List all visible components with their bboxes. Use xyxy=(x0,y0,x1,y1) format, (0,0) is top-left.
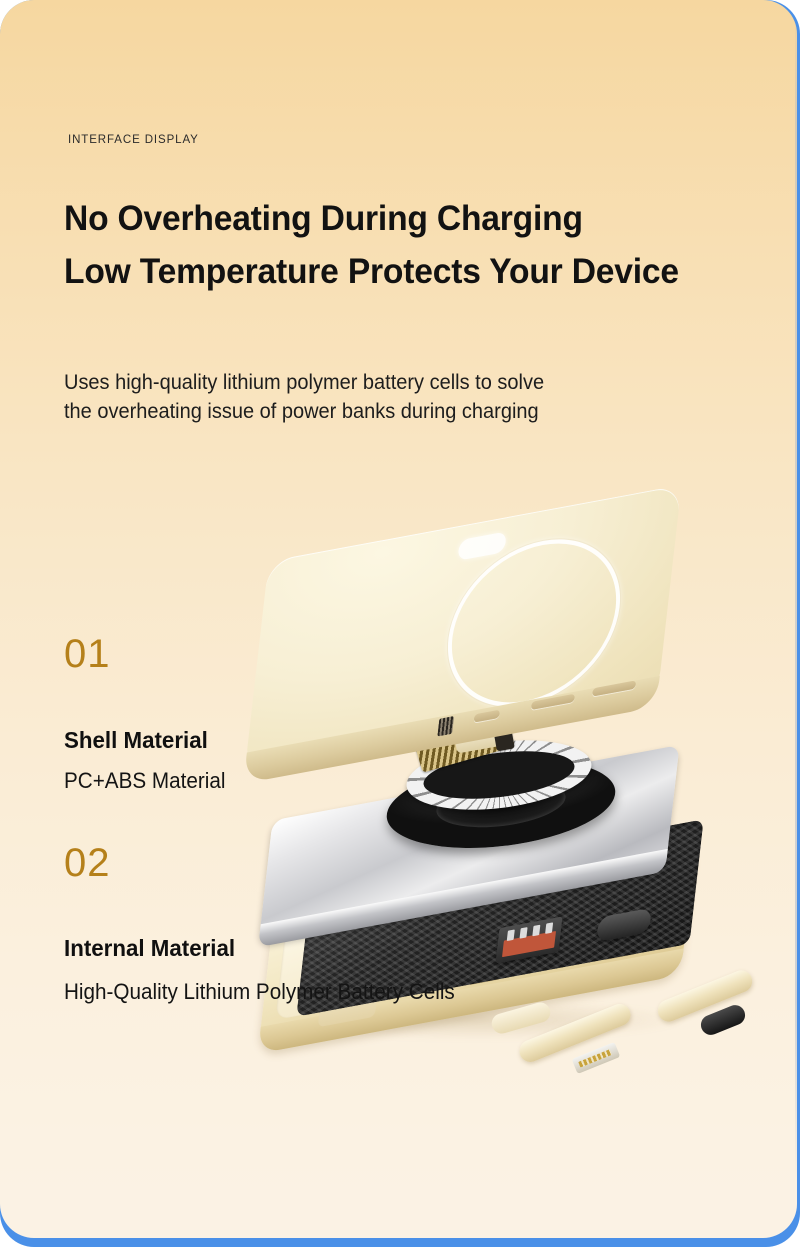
top-shell-surface xyxy=(244,485,681,775)
wireless-charging-coil xyxy=(382,748,621,859)
magnet-segments xyxy=(403,731,596,819)
feature-description-internal-material: High-Quality Lithium Polymer Battery Cel… xyxy=(64,979,455,1005)
magnet-ring-hole xyxy=(421,744,577,806)
magsafe-ring xyxy=(439,525,629,721)
led-indicator xyxy=(457,531,507,561)
base-slot xyxy=(603,947,637,960)
shell-slot xyxy=(474,710,501,723)
usb-c-cable xyxy=(655,967,756,1025)
lithium-polymer-battery-cell xyxy=(258,745,679,945)
page-subtitle-line-2: the overheating issue of power banks dur… xyxy=(64,397,696,426)
base-slot xyxy=(468,972,502,985)
feature-number-02: 02 xyxy=(64,841,111,886)
usb-a-pin xyxy=(520,927,528,939)
content-card: INTERFACE DISPLAY No Overheating During … xyxy=(0,0,797,1238)
top-shell-edge xyxy=(243,676,660,784)
shell-slot xyxy=(592,680,636,696)
eyebrow-label: INTERFACE DISPLAY xyxy=(68,134,199,146)
feature-title-internal-material: Internal Material xyxy=(64,935,235,962)
product-illustration xyxy=(0,0,797,1238)
usb-a-pin xyxy=(532,925,540,937)
top-shell xyxy=(244,485,681,775)
feature-description-shell-material: PC+ABS Material xyxy=(64,768,225,794)
base-tray xyxy=(258,838,696,1054)
battery-edge xyxy=(258,849,668,947)
usb-c-port xyxy=(596,908,652,943)
page-subtitle-line-1: Uses high-quality lithium polymer batter… xyxy=(64,368,696,397)
ground-shadow xyxy=(268,1000,688,1040)
shell-speaker-grille xyxy=(437,716,454,736)
coil-connector-tab xyxy=(454,722,511,753)
magnet-ring-array xyxy=(403,731,596,819)
page-title: No Overheating During Charging Low Tempe… xyxy=(64,192,736,298)
page-title-line-2: Low Temperature Protects Your Device xyxy=(64,245,736,298)
page-subtitle: Uses high-quality lithium polymer batter… xyxy=(64,368,696,426)
usb-a-pin xyxy=(507,929,515,941)
shell-slot xyxy=(531,694,575,710)
usb-a-port xyxy=(496,917,563,964)
battery-surface xyxy=(258,745,679,945)
product-feature-page: INTERFACE DISPLAY No Overheating During … xyxy=(0,0,800,1247)
coil-inner-ring xyxy=(434,774,568,834)
usb-c-connector-tip xyxy=(698,1002,748,1038)
cable-tail xyxy=(489,1000,552,1036)
lightning-cable xyxy=(516,1001,634,1066)
lightning-connector-tip xyxy=(572,1042,621,1074)
usb-a-insert xyxy=(502,931,556,957)
card-edge-line xyxy=(795,0,797,1180)
coil-connector-clip xyxy=(493,727,515,752)
coil-winding xyxy=(415,719,515,772)
page-title-line-1: No Overheating During Charging xyxy=(64,192,736,245)
usb-a-pin xyxy=(545,922,553,934)
feature-number-01: 01 xyxy=(64,632,111,677)
feature-title-shell-material: Shell Material xyxy=(64,727,208,754)
